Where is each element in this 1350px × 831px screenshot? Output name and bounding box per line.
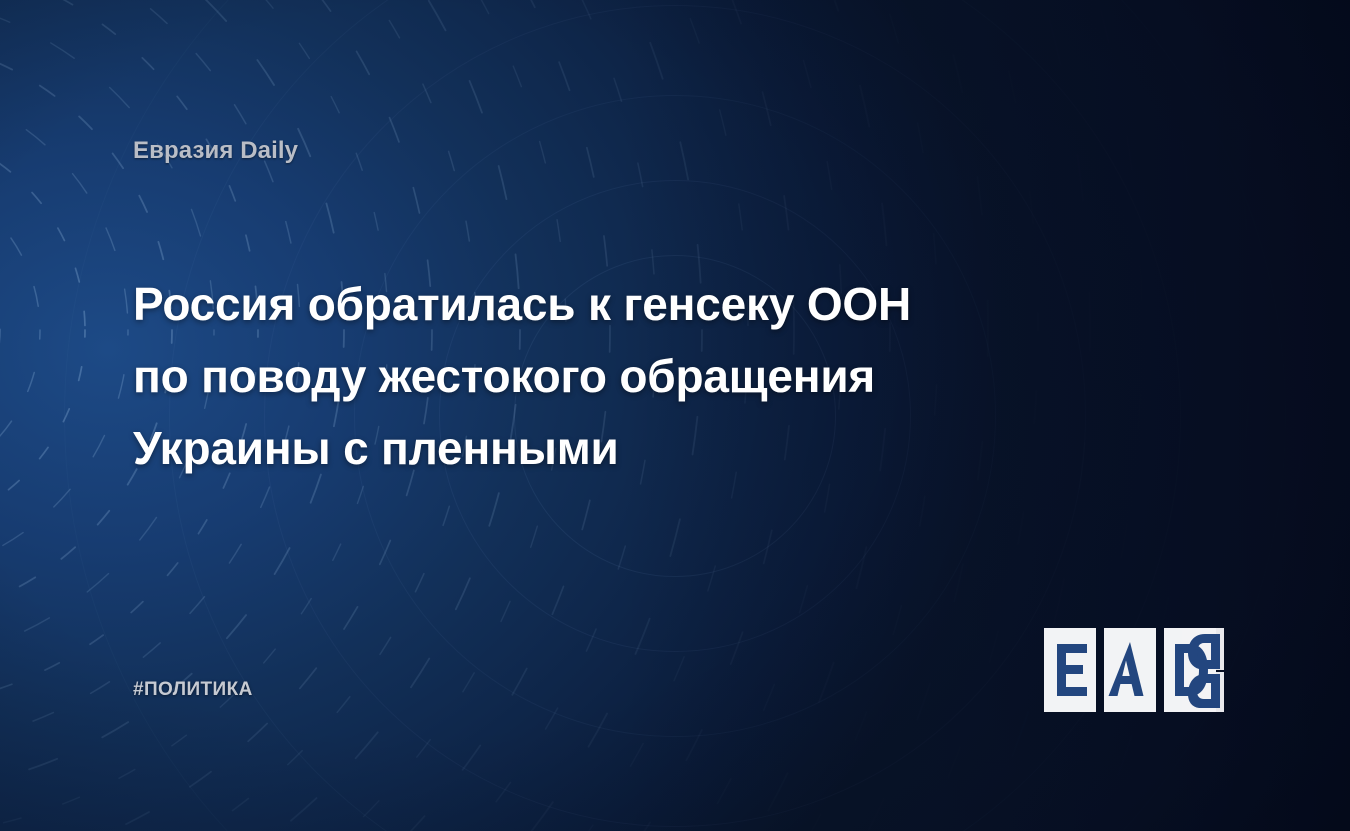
eadaily-logo[interactable] bbox=[1044, 628, 1224, 712]
category-tag[interactable]: #ПОЛИТИКА bbox=[133, 679, 253, 701]
headline: Россия обратилась к генсеку ООН по повод… bbox=[133, 268, 1093, 484]
brand-name: Евразия Daily bbox=[133, 137, 298, 165]
headline-line: по поводу жестокого обращения bbox=[133, 340, 1093, 412]
headline-line: Россия обратилась к генсеку ООН bbox=[133, 268, 1093, 340]
headline-line: Украины с пленными bbox=[133, 412, 1093, 484]
news-card: Евразия Daily Россия обратилась к генсек… bbox=[0, 0, 1350, 831]
